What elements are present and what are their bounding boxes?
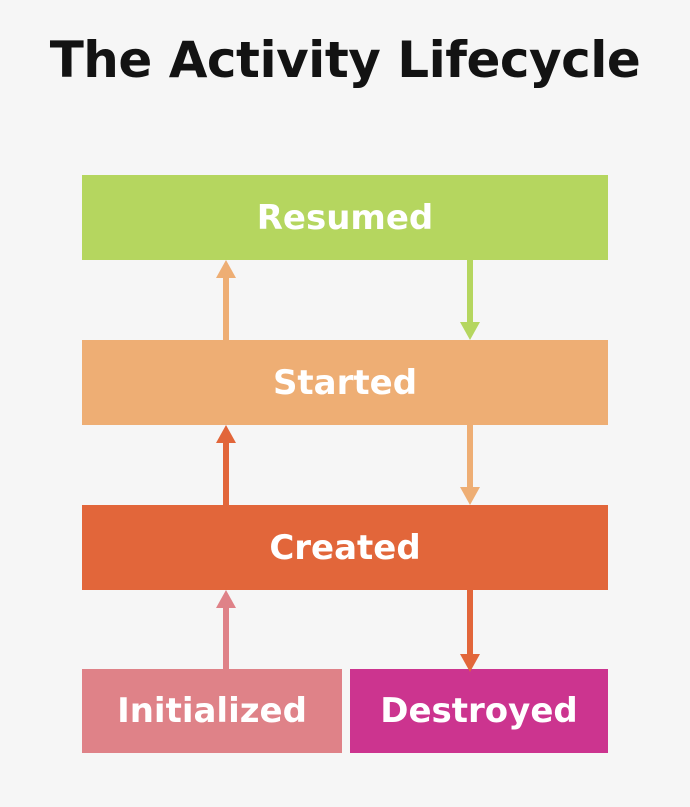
arrow-up-icon-created-to-started [216, 425, 236, 505]
state-box-resumed: Resumed [82, 175, 608, 260]
state-label-resumed: Resumed [257, 198, 434, 238]
lifecycle-diagram: The Activity Lifecycle Resumed Started C… [0, 0, 690, 807]
arrow-shaft [223, 276, 229, 340]
arrowhead-down-icon [460, 654, 480, 672]
state-box-created: Created [82, 505, 608, 590]
arrowhead-down-icon [460, 322, 480, 340]
state-box-initialized: Initialized [82, 669, 342, 753]
arrow-up-icon-started-to-resumed [216, 260, 236, 340]
state-label-started: Started [273, 363, 417, 403]
arrow-down-icon-started-to-created [460, 425, 480, 505]
arrow-down-icon-resumed-to-started [460, 260, 480, 340]
arrow-up-icon-initialized-to-created [216, 590, 236, 670]
state-box-started: Started [82, 340, 608, 425]
state-label-created: Created [269, 528, 420, 568]
state-label-destroyed: Destroyed [380, 691, 577, 731]
state-label-initialized: Initialized [117, 691, 307, 731]
page-title: The Activity Lifecycle [0, 28, 690, 92]
arrow-shaft [223, 606, 229, 670]
arrowhead-down-icon [460, 487, 480, 505]
arrow-shaft [467, 590, 473, 656]
arrow-shaft [223, 441, 229, 505]
arrow-shaft [467, 260, 473, 324]
arrow-shaft [467, 425, 473, 489]
state-box-destroyed: Destroyed [350, 669, 608, 753]
arrow-down-icon-created-to-destroyed [460, 590, 480, 672]
